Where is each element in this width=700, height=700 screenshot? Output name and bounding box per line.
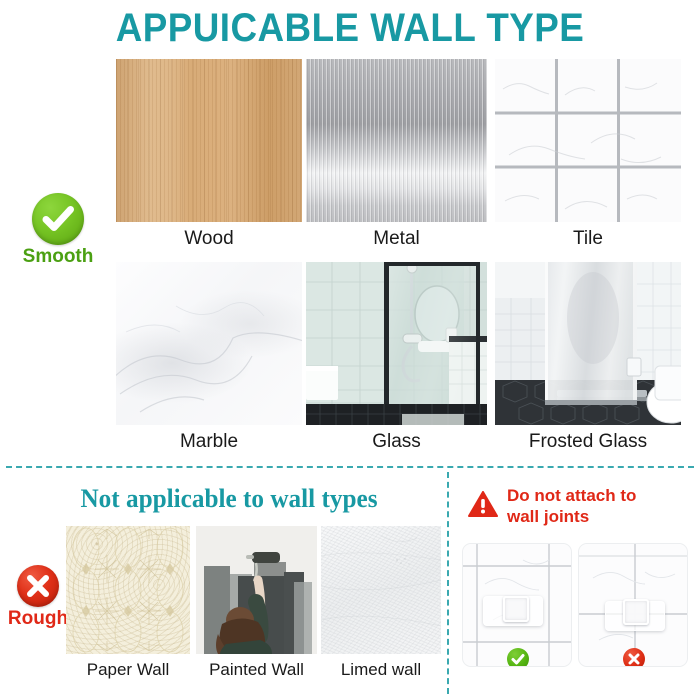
material-label-tile: Tile	[495, 228, 681, 250]
painted-wall-photo-image	[196, 526, 317, 654]
material-tile-frosted-glass	[495, 262, 681, 425]
joint-warning-text: Do not attach to wall joints	[507, 486, 636, 527]
page-title: APPUICABLE WALL TYPE	[28, 6, 672, 51]
material-label-marble: Marble	[116, 431, 302, 453]
metal-texture-image	[306, 59, 487, 222]
smooth-badge-label: Smooth	[8, 246, 108, 268]
material-tile-tile	[495, 59, 681, 222]
not-applicable-heading: Not applicable to wall types	[30, 484, 428, 514]
rough-badge-label: Rough	[2, 608, 74, 630]
frosted-glass-photo-image	[495, 262, 681, 425]
material-label-glass: Glass	[306, 431, 487, 453]
glass-shower-photo-image	[306, 262, 487, 425]
limed-wall-texture-image	[321, 526, 441, 654]
wood-texture-image	[116, 59, 302, 222]
rough-badge: Rough	[2, 565, 74, 630]
material-label-limed-wall: Limed wall	[319, 660, 443, 680]
smooth-badge: Smooth	[8, 193, 108, 268]
adhesive-hook-body	[623, 599, 649, 625]
material-label-frosted-glass: Frosted Glass	[495, 431, 681, 453]
horizontal-dashed-divider	[6, 466, 694, 468]
material-label-paper-wall: Paper Wall	[66, 660, 190, 680]
material-tile-glass	[306, 262, 487, 425]
material-tile-metal	[306, 59, 487, 222]
green-check-circle-icon	[507, 648, 529, 667]
material-tile-marble	[116, 262, 302, 425]
marble-texture-image	[116, 262, 302, 425]
green-check-circle-icon	[32, 193, 84, 245]
red-x-circle-icon	[623, 648, 645, 667]
material-label-metal: Metal	[306, 228, 487, 250]
material-tile-limed-wall	[321, 526, 441, 654]
joint-warning-block: Do not attach to wall joints	[468, 486, 688, 527]
joint-warning-line2: wall joints	[507, 507, 636, 528]
joint-example-incorrect	[578, 543, 688, 667]
ceramic-tile-texture-image	[495, 59, 681, 222]
material-tile-paper-wall	[66, 526, 190, 654]
joint-warning-line1: Do not attach to	[507, 486, 636, 507]
paper-wall-texture-image	[66, 526, 190, 654]
warning-triangle-icon	[468, 491, 498, 523]
vertical-dashed-divider	[447, 472, 449, 694]
material-label-painted-wall: Painted Wall	[194, 660, 319, 680]
red-x-circle-icon	[17, 565, 59, 607]
adhesive-hook-body	[503, 596, 529, 622]
material-tile-wood	[116, 59, 302, 222]
material-label-wood: Wood	[116, 228, 302, 250]
joint-example-correct	[462, 543, 572, 667]
material-tile-painted-wall	[196, 526, 317, 654]
